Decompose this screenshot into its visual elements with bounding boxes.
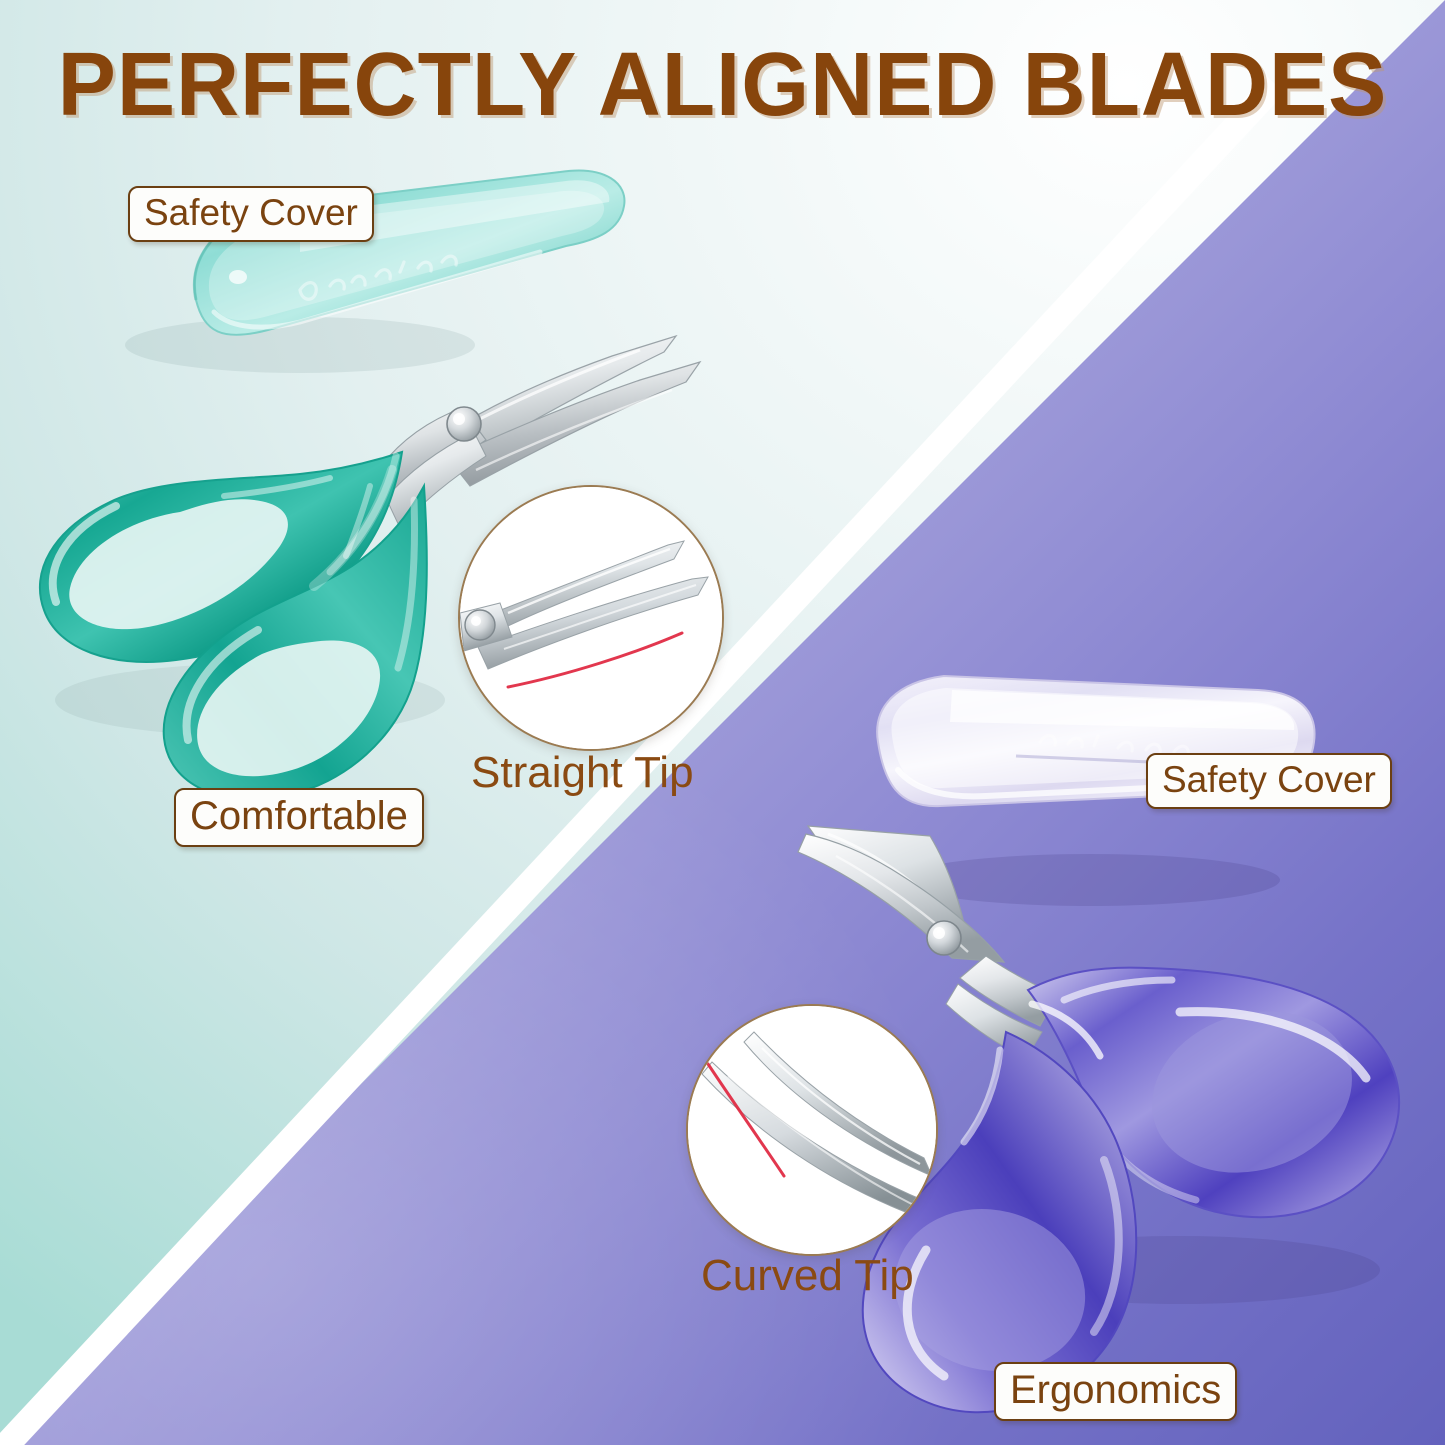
product-feature-image: PERFECTLY ALIGNED BLADES Safety Cover Co… [0, 0, 1445, 1445]
label-straight-tip: Straight Tip [471, 751, 694, 795]
straight-tip-detail-art [460, 487, 722, 749]
purple-scissors-handles [863, 968, 1399, 1413]
page-title: PERFECTLY ALIGNED BLADES [22, 34, 1424, 137]
label-ergonomics: Ergonomics [994, 1362, 1237, 1421]
curved-tip-detail-circle [686, 1004, 938, 1256]
label-comfortable: Comfortable [174, 788, 424, 847]
label-safety-cover-right: Safety Cover [1146, 753, 1392, 809]
curved-tip-detail-art [688, 1006, 936, 1254]
straight-tip-detail-circle [458, 485, 724, 751]
label-curved-tip: Curved Tip [701, 1254, 914, 1298]
label-safety-cover-left: Safety Cover [128, 186, 374, 242]
